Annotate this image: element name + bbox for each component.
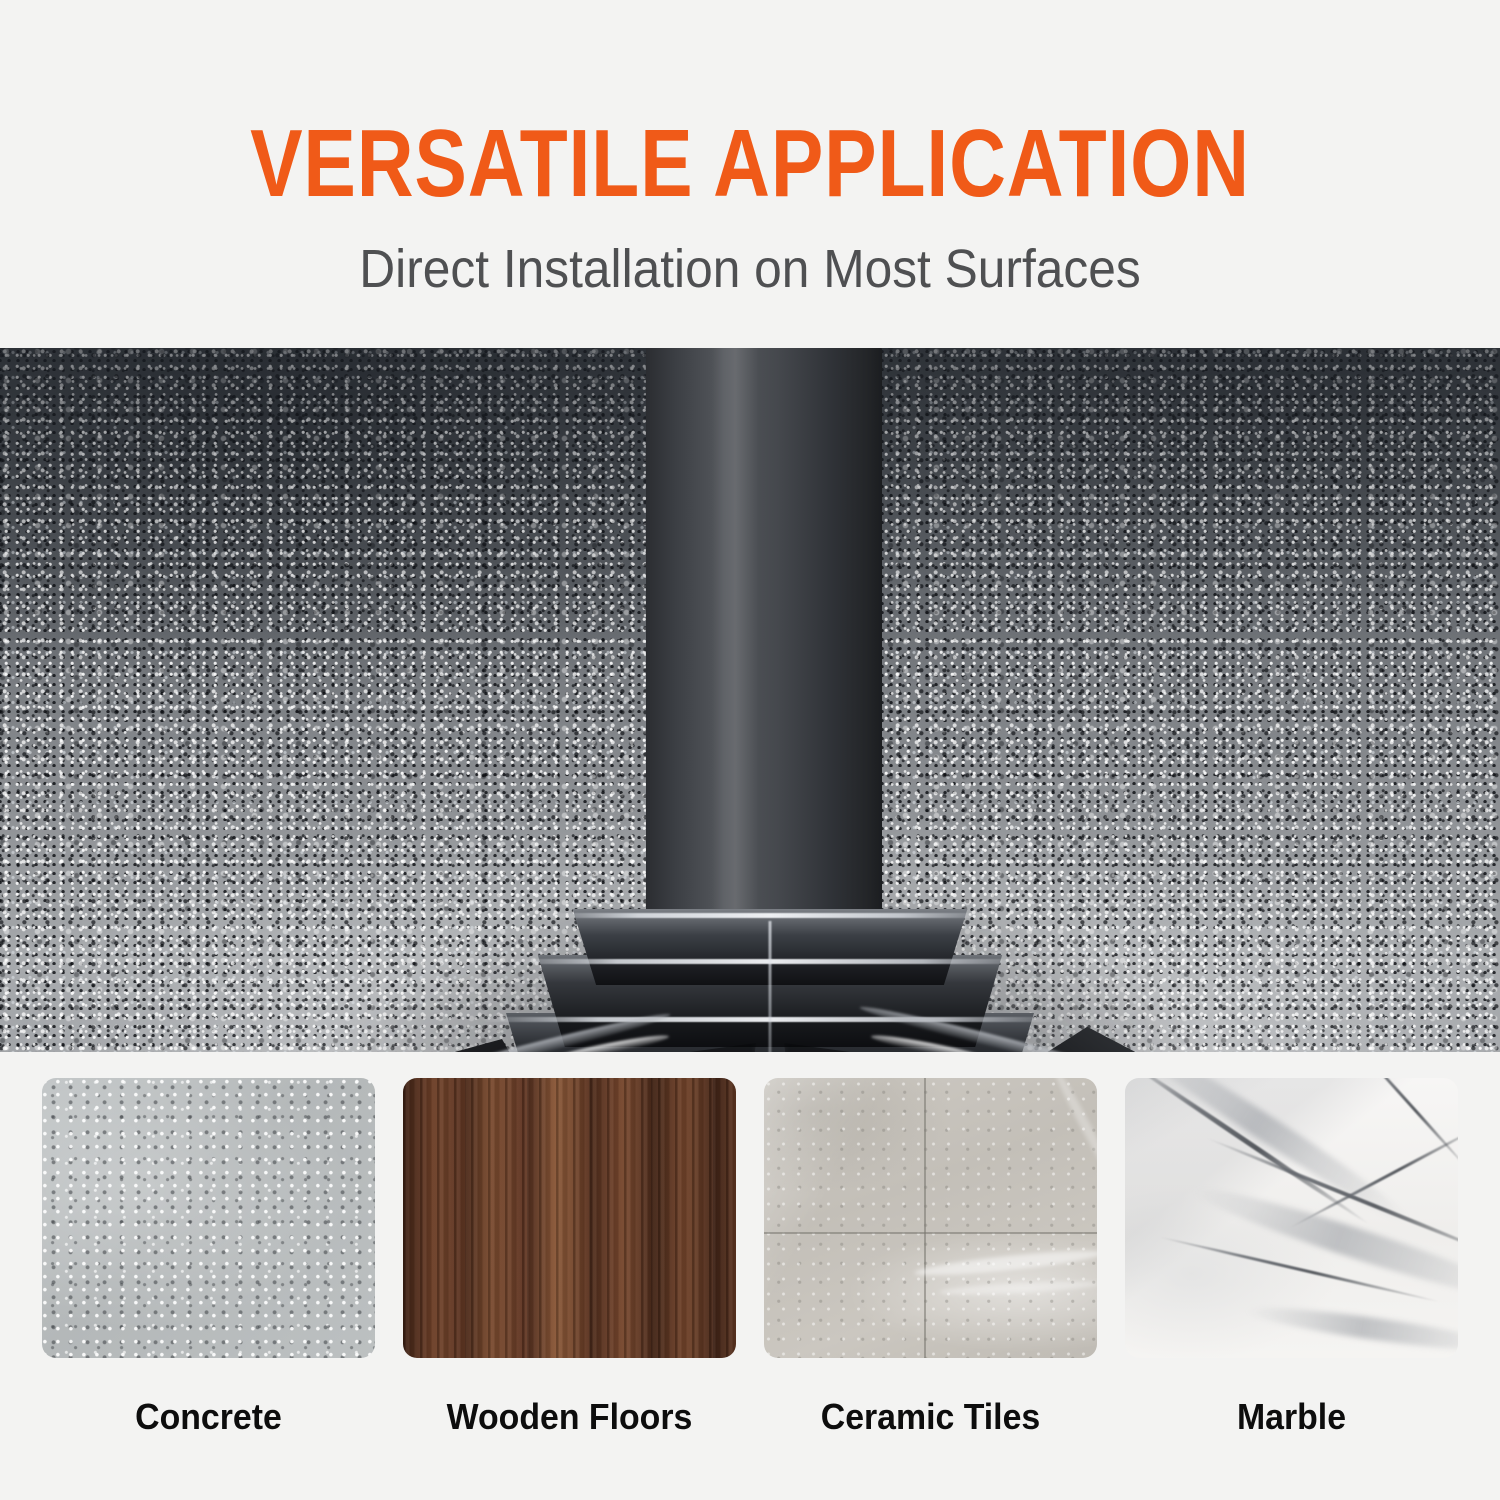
tile-vein-1: [914, 1246, 1097, 1280]
swatch-row: [42, 1078, 1458, 1358]
swatch-concrete: [42, 1078, 375, 1358]
swatch-marble: [1125, 1078, 1458, 1358]
swatch-wooden-floors: [403, 1078, 736, 1358]
base-rim-highlight-1: [550, 913, 990, 918]
tile-grout-vertical: [924, 1078, 926, 1358]
page-subtitle: Direct Installation on Most Surfaces: [60, 236, 1440, 302]
swatch-label-row: Concrete Wooden Floors Ceramic Tiles Mar…: [42, 1396, 1458, 1438]
swatch-label-concrete: Concrete: [52, 1396, 365, 1438]
product-feature-card: VERSATILE APPLICATION Direct Installatio…: [0, 0, 1500, 1500]
bollard-base: [400, 893, 1140, 1052]
header-banner: VERSATILE APPLICATION Direct Installatio…: [0, 0, 1500, 348]
swatch-ceramic-tiles: [764, 1078, 1097, 1358]
hero-product-photo: [0, 348, 1500, 1052]
tile-grout-horizontal: [764, 1232, 1097, 1234]
swatch-label-wooden-floors: Wooden Floors: [413, 1396, 726, 1438]
swatch-label-marble: Marble: [1135, 1396, 1448, 1438]
surface-swatch-strip: Concrete Wooden Floors Ceramic Tiles Mar…: [0, 1052, 1500, 1500]
tile-vein-2: [939, 1279, 1097, 1297]
marble-vein-4: [1288, 1119, 1458, 1230]
tile-vein-3: [1049, 1078, 1097, 1183]
page-title: VERSATILE APPLICATION: [135, 112, 1365, 216]
swatch-label-ceramic-tiles: Ceramic Tiles: [774, 1396, 1087, 1438]
marble-vein-5: [1349, 1078, 1458, 1172]
base-corner-crease: [769, 921, 772, 1052]
marble-vein-soft-3: [1245, 1300, 1458, 1358]
